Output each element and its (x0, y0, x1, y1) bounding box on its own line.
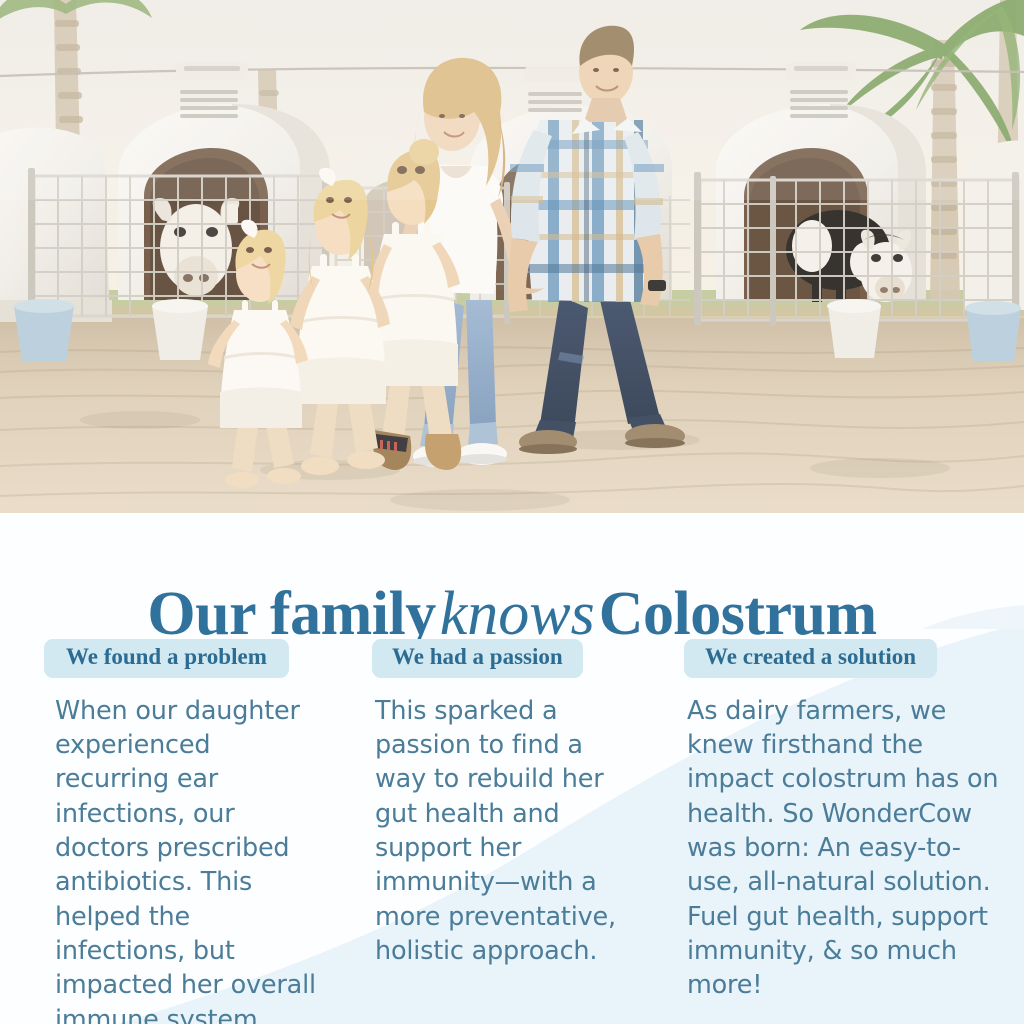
badge-we-created-a-solution: We created a solution (684, 639, 937, 678)
page-title: Our familyknowsColostrum (0, 583, 1024, 645)
headline-part1: Our family (147, 580, 435, 648)
body-text-solution: As dairy farmers, we knew firsthand the … (687, 694, 1005, 1003)
body-text-problem: When our daughter experienced recurring … (55, 694, 323, 1024)
hero-photo (0, 0, 1024, 513)
content-panel: Our familyknowsColostrum We found a prob… (0, 513, 1024, 1024)
story-column-problem: We found a problem When our daughter exp… (0, 639, 362, 1024)
headline-part2: Colostrum (599, 580, 877, 648)
body-text-passion: This sparked a passion to find a way to … (375, 694, 633, 968)
headline-emphasis: knows (436, 580, 599, 648)
hero-photo-illustration (0, 0, 1024, 513)
promotional-graphic: Our familyknowsColostrum We found a prob… (0, 0, 1024, 1024)
story-column-passion: We had a passion This sparked a passion … (362, 639, 684, 1024)
story-column-solution: We created a solution As dairy farmers, … (684, 639, 1024, 1024)
badge-we-found-a-problem: We found a problem (44, 639, 289, 678)
story-columns: We found a problem When our daughter exp… (0, 639, 1024, 1024)
badge-we-had-a-passion: We had a passion (372, 639, 583, 678)
